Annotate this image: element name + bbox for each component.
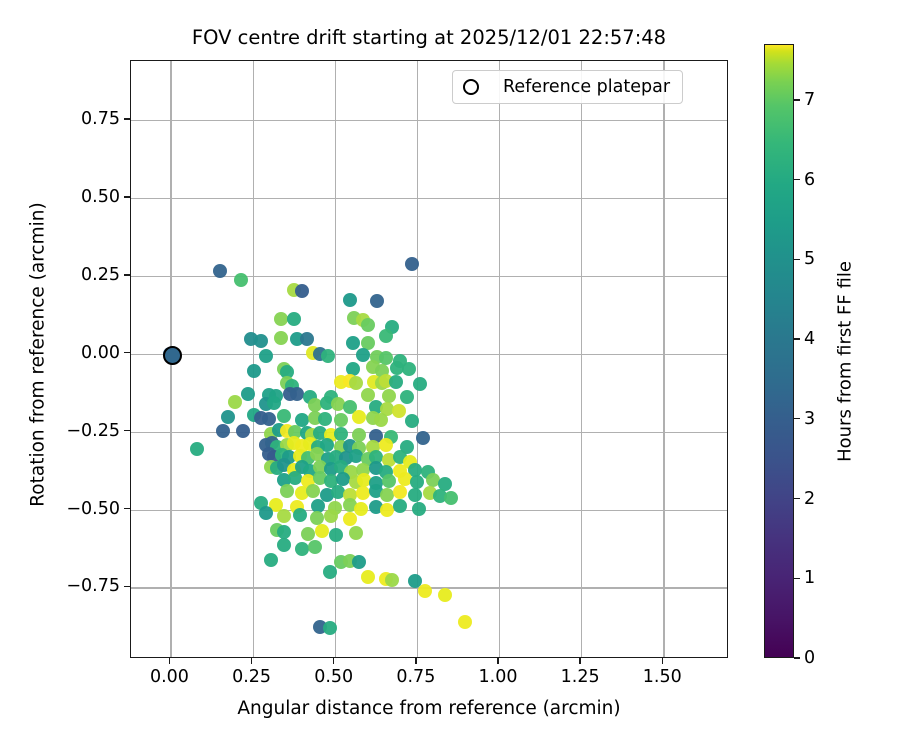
- y-tick-6: [124, 586, 130, 587]
- colorbar-tick-2: [794, 498, 800, 499]
- x-tick-label-3: 0.75: [396, 667, 435, 687]
- x-tick-0: [169, 658, 170, 664]
- y-tick-0: [124, 118, 130, 119]
- legend-circle-open-icon: [463, 79, 479, 95]
- x-tick-5: [579, 658, 580, 664]
- y-tick-3: [124, 352, 130, 353]
- colorbar-label: Hours from first FF file: [835, 55, 856, 669]
- colorbar-tick-label-6: 6: [804, 170, 815, 190]
- colorbar-tick-1: [794, 578, 800, 579]
- colorbar-gradient: [764, 44, 794, 658]
- page-title: FOV centre drift starting at 2025/12/01 …: [130, 26, 728, 49]
- colorbar-tick-3: [794, 418, 800, 419]
- y-tick-label-1: 0.50: [81, 187, 120, 207]
- x-tick-label-1: 0.25: [232, 667, 271, 687]
- colorbar-tick-4: [794, 338, 800, 339]
- y-tick-1: [124, 196, 130, 197]
- legend: Reference platepar: [452, 70, 683, 104]
- colorbar-tick-label-0: 0: [804, 648, 815, 668]
- x-tick-4: [497, 658, 498, 664]
- colorbar-tick-6: [794, 179, 800, 180]
- figure-canvas: FOV centre drift starting at 2025/12/01 …: [0, 0, 900, 750]
- colorbar-tick-5: [794, 259, 800, 260]
- x-tick-1: [251, 658, 252, 664]
- y-tick-label-2: 0.25: [81, 265, 120, 285]
- y-tick-label-6: −0.75: [66, 576, 120, 596]
- y-tick-label-4: −0.25: [66, 421, 120, 441]
- x-tick-2: [333, 658, 334, 664]
- y-tick-label-3: 0.00: [81, 343, 120, 363]
- x-tick-3: [415, 658, 416, 664]
- colorbar-tick-label-3: 3: [804, 409, 815, 429]
- plot-axes: [130, 60, 728, 658]
- y-tick-label-5: −0.50: [66, 499, 120, 519]
- y-tick-4: [124, 430, 130, 431]
- x-tick-label-0: 0.00: [150, 667, 189, 687]
- x-tick-label-6: 1.50: [643, 667, 682, 687]
- colorbar-tick-label-2: 2: [804, 489, 815, 509]
- colorbar-tick-0: [794, 657, 800, 658]
- colorbar-tick-label-4: 4: [804, 329, 815, 349]
- reference-marker-layer: [131, 61, 727, 657]
- colorbar-tick-label-5: 5: [804, 249, 815, 269]
- x-tick-label-2: 0.50: [314, 667, 353, 687]
- colorbar-tick-7: [794, 99, 800, 100]
- y-axis-label: Rotation from reference (arcmin): [28, 56, 49, 654]
- reference-platepar-marker: [163, 346, 182, 365]
- x-tick-label-5: 1.25: [561, 667, 600, 687]
- colorbar-tick-label-1: 1: [804, 568, 815, 588]
- y-tick-5: [124, 508, 130, 509]
- y-tick-label-0: 0.75: [81, 109, 120, 129]
- x-tick-label-4: 1.00: [479, 667, 518, 687]
- colorbar-tick-label-7: 7: [804, 90, 815, 110]
- x-tick-6: [662, 658, 663, 664]
- x-axis-label: Angular distance from reference (arcmin): [130, 698, 728, 719]
- y-tick-2: [124, 274, 130, 275]
- legend-item-label: Reference platepar: [503, 77, 670, 97]
